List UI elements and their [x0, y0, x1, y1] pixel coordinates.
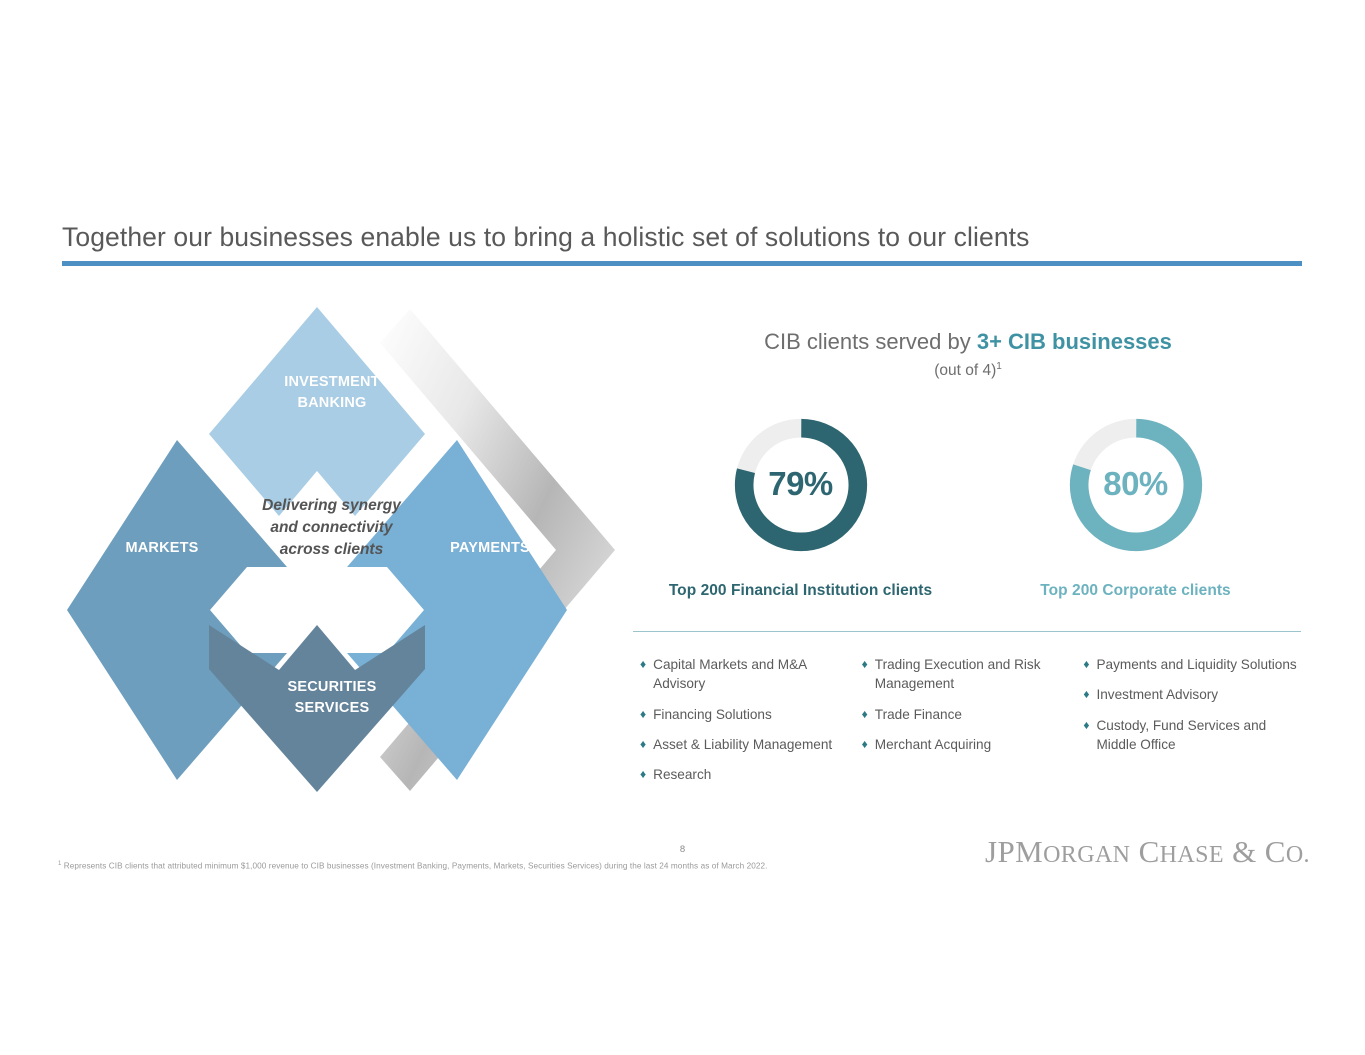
metrics-heading: CIB clients served by 3+ CIB businesses — [633, 328, 1303, 356]
diamond-bullet-icon: ♦ — [1083, 685, 1089, 704]
logo-part-organ: ORGAN — [1043, 842, 1130, 868]
logo-part-hase: HASE — [1160, 842, 1224, 868]
list-item: ♦ Capital Markets and M&A Advisory — [640, 655, 858, 694]
list-item-label: Asset & Liability Management — [653, 735, 832, 754]
list-item: ♦ Payments and Liquidity Solutions — [1083, 655, 1301, 674]
footnote-marker: 1 — [58, 861, 61, 867]
list-item-label: Trade Finance — [875, 705, 962, 724]
donut-graphic-2: 80% — [1061, 410, 1211, 560]
title-block: Together our businesses enable us to bri… — [62, 222, 1302, 254]
jpmorgan-chase-logo: JPMORGAN CHASE & CO. — [985, 834, 1305, 870]
list-item-label: Trading Execution and Risk Management — [875, 655, 1080, 694]
donut-value-2: 80% — [1061, 465, 1211, 503]
footnote-text: Represents CIB clients that attributed m… — [64, 862, 768, 871]
list-item-label: Investment Advisory — [1096, 685, 1218, 704]
list-item: ♦ Research — [640, 765, 858, 784]
metrics-subheading: (out of 4)1 — [633, 361, 1303, 380]
diamond-bullet-icon: ♦ — [640, 705, 646, 724]
donut-chart-financial-institution: 79% Top 200 Financial Institution client… — [641, 410, 961, 600]
diamond-bullet-icon: ♦ — [862, 655, 868, 674]
diamond-bullet-icon: ♦ — [640, 655, 646, 674]
capabilities-column-1: ♦ Capital Markets and M&A Advisory ♦ Fin… — [640, 655, 862, 795]
list-item-label: Custody, Fund Services and Middle Office — [1096, 716, 1301, 755]
diamond-bullet-icon: ♦ — [862, 705, 868, 724]
list-item: ♦ Custody, Fund Services and Middle Offi… — [1083, 716, 1301, 755]
synergy-diamond-diagram: INVESTMENT BANKING MARKETS PAYMENTS SECU… — [62, 295, 637, 805]
metrics-panel: CIB clients served by 3+ CIB businesses … — [633, 328, 1303, 600]
list-item: ♦ Financing Solutions — [640, 705, 858, 724]
donut-value-1: 79% — [726, 465, 876, 503]
list-item: ♦ Merchant Acquiring — [862, 735, 1080, 754]
page-title: Together our businesses enable us to bri… — [62, 222, 1302, 254]
diamond-markets — [67, 440, 287, 780]
logo-part-c: C — [1130, 834, 1159, 869]
donut-chart-row: 79% Top 200 Financial Institution client… — [633, 410, 1303, 600]
donut-graphic-1: 79% — [726, 410, 876, 560]
capabilities-column-2: ♦ Trading Execution and Risk Management … — [862, 655, 1084, 795]
diamond-bullet-icon: ♦ — [640, 765, 646, 784]
donut-chart-corporate: 80% Top 200 Corporate clients — [976, 410, 1296, 600]
capabilities-divider — [633, 631, 1301, 632]
metrics-subheading-text: (out of 4) — [934, 362, 996, 379]
logo-part-o: O. — [1286, 842, 1310, 868]
logo-part-amp-c: & C — [1224, 834, 1286, 869]
footnote: 1 Represents CIB clients that attributed… — [58, 861, 767, 871]
diamond-bullet-icon: ♦ — [640, 735, 646, 754]
title-accent-rule — [62, 261, 1302, 266]
donut-caption-1: Top 200 Financial Institution clients — [641, 582, 961, 600]
list-item: ♦ Trading Execution and Risk Management — [862, 655, 1080, 694]
diamond-bullet-icon: ♦ — [1083, 716, 1089, 735]
diamond-bullet-icon: ♦ — [862, 735, 868, 754]
slide-canvas: Together our businesses enable us to bri… — [0, 0, 1365, 1055]
capabilities-column-3: ♦ Payments and Liquidity Solutions ♦ Inv… — [1083, 655, 1305, 795]
capabilities-columns: ♦ Capital Markets and M&A Advisory ♦ Fin… — [640, 655, 1305, 795]
metrics-heading-accent: 3+ CIB businesses — [977, 329, 1172, 354]
metrics-footnote-marker: 1 — [996, 361, 1002, 372]
list-item-label: Financing Solutions — [653, 705, 772, 724]
diamond-bullet-icon: ♦ — [1083, 655, 1089, 674]
donut-caption-2: Top 200 Corporate clients — [976, 582, 1296, 600]
list-item: ♦ Investment Advisory — [1083, 685, 1301, 704]
list-item-label: Capital Markets and M&A Advisory — [653, 655, 858, 694]
metrics-heading-prefix: CIB clients served by — [764, 329, 977, 354]
diagram-center-text: Delivering synergy and connectivity acro… — [254, 495, 409, 561]
list-item: ♦ Trade Finance — [862, 705, 1080, 724]
list-item-label: Merchant Acquiring — [875, 735, 991, 754]
list-item-label: Payments and Liquidity Solutions — [1096, 655, 1296, 674]
list-item-label: Research — [653, 765, 711, 784]
list-item: ♦ Asset & Liability Management — [640, 735, 858, 754]
logo-part-jpm: JPM — [985, 834, 1043, 869]
